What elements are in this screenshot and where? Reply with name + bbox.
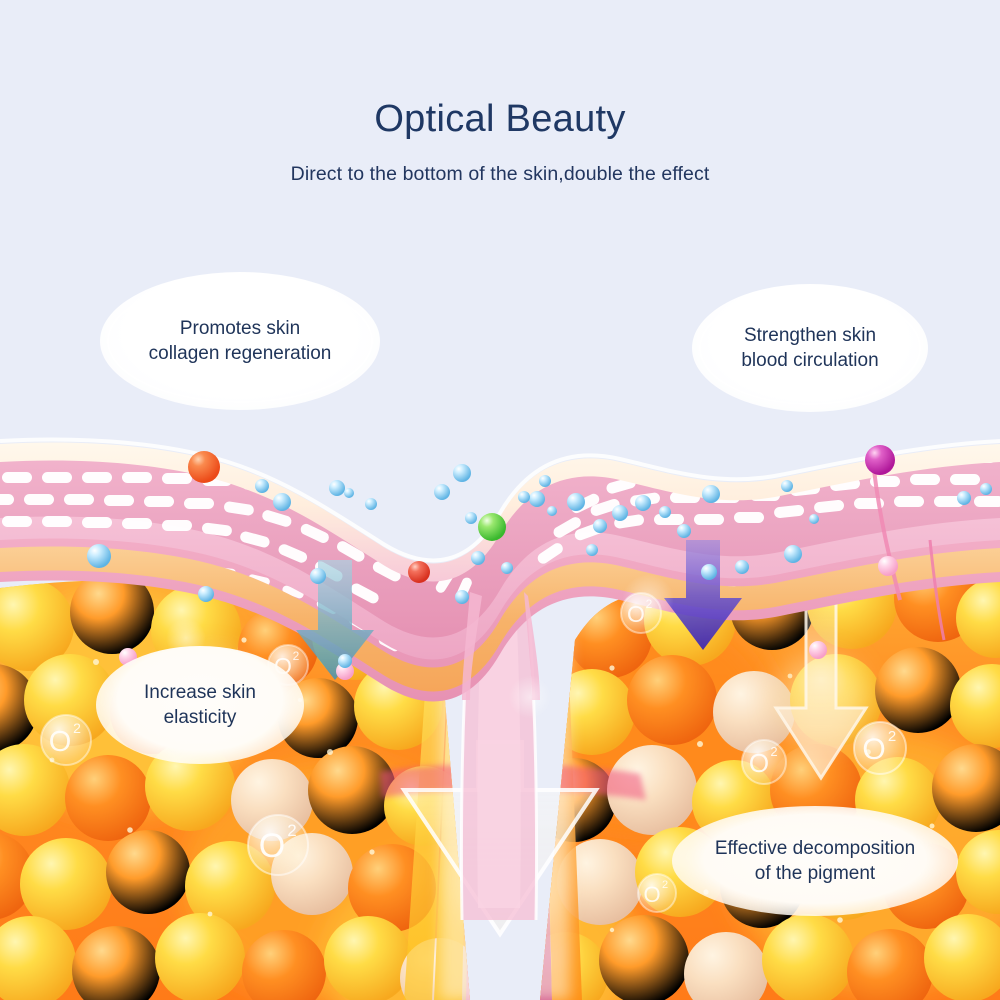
callout-elasticity-line2: elasticity: [164, 707, 237, 728]
infographic-root: O 2 O 2 O 2 O 2 O 2: [0, 0, 1000, 1000]
svg-text:O: O: [49, 726, 72, 758]
svg-text:2: 2: [293, 649, 300, 663]
svg-text:2: 2: [662, 879, 668, 891]
callout-blood-text: Strengthen skin blood circulation: [731, 323, 888, 374]
svg-text:2: 2: [770, 744, 777, 759]
sphere-red: [408, 561, 430, 583]
callout-blood-circulation: Strengthen skin blood circulation: [692, 284, 928, 412]
sphere-green: [478, 513, 506, 541]
svg-text:O: O: [862, 733, 885, 766]
callout-blood-line2: blood circulation: [741, 350, 878, 371]
o2-bubble: O 2: [638, 874, 676, 912]
header: Optical Beauty Direct to the bottom of t…: [0, 0, 1000, 186]
callout-pigment-text: Effective decomposition of the pigment: [705, 836, 925, 887]
callout-elasticity-text: Increase skin elasticity: [134, 680, 266, 731]
svg-text:O: O: [643, 882, 660, 907]
svg-text:2: 2: [287, 821, 296, 840]
svg-text:2: 2: [888, 728, 896, 745]
o2-bubble: O 2: [41, 715, 91, 765]
callout-skin-elasticity: Increase skin elasticity: [96, 646, 304, 764]
svg-text:O: O: [749, 748, 769, 778]
sphere-magenta: [865, 445, 895, 475]
sphere-pink: [878, 556, 898, 576]
callout-collagen-regeneration: Promotes skin collagen regeneration: [100, 272, 380, 410]
sphere-orange: [188, 451, 220, 483]
callout-collagen-line2: collagen regeneration: [149, 343, 332, 364]
callout-pigment-decomposition: Effective decomposition of the pigment: [672, 806, 958, 916]
callout-pigment-line2: of the pigment: [755, 863, 875, 884]
callout-collagen-text: Promotes skin collagen regeneration: [139, 316, 342, 367]
callout-collagen-line1: Promotes skin: [180, 318, 300, 339]
callout-blood-line1: Strengthen skin: [744, 325, 876, 346]
callout-elasticity-line1: Increase skin: [144, 682, 256, 703]
o2-bubble: O 2: [854, 722, 906, 774]
svg-text:2: 2: [73, 720, 81, 736]
page-title: Optical Beauty: [0, 98, 1000, 141]
callout-pigment-line1: Effective decomposition: [715, 838, 915, 859]
page-subtitle: Direct to the bottom of the skin,double …: [0, 163, 1000, 186]
o2-bubble: O 2: [248, 815, 308, 875]
svg-text:O: O: [259, 827, 285, 865]
o2-bubble: O 2: [742, 740, 786, 784]
sphere-pink-4: [809, 641, 827, 659]
